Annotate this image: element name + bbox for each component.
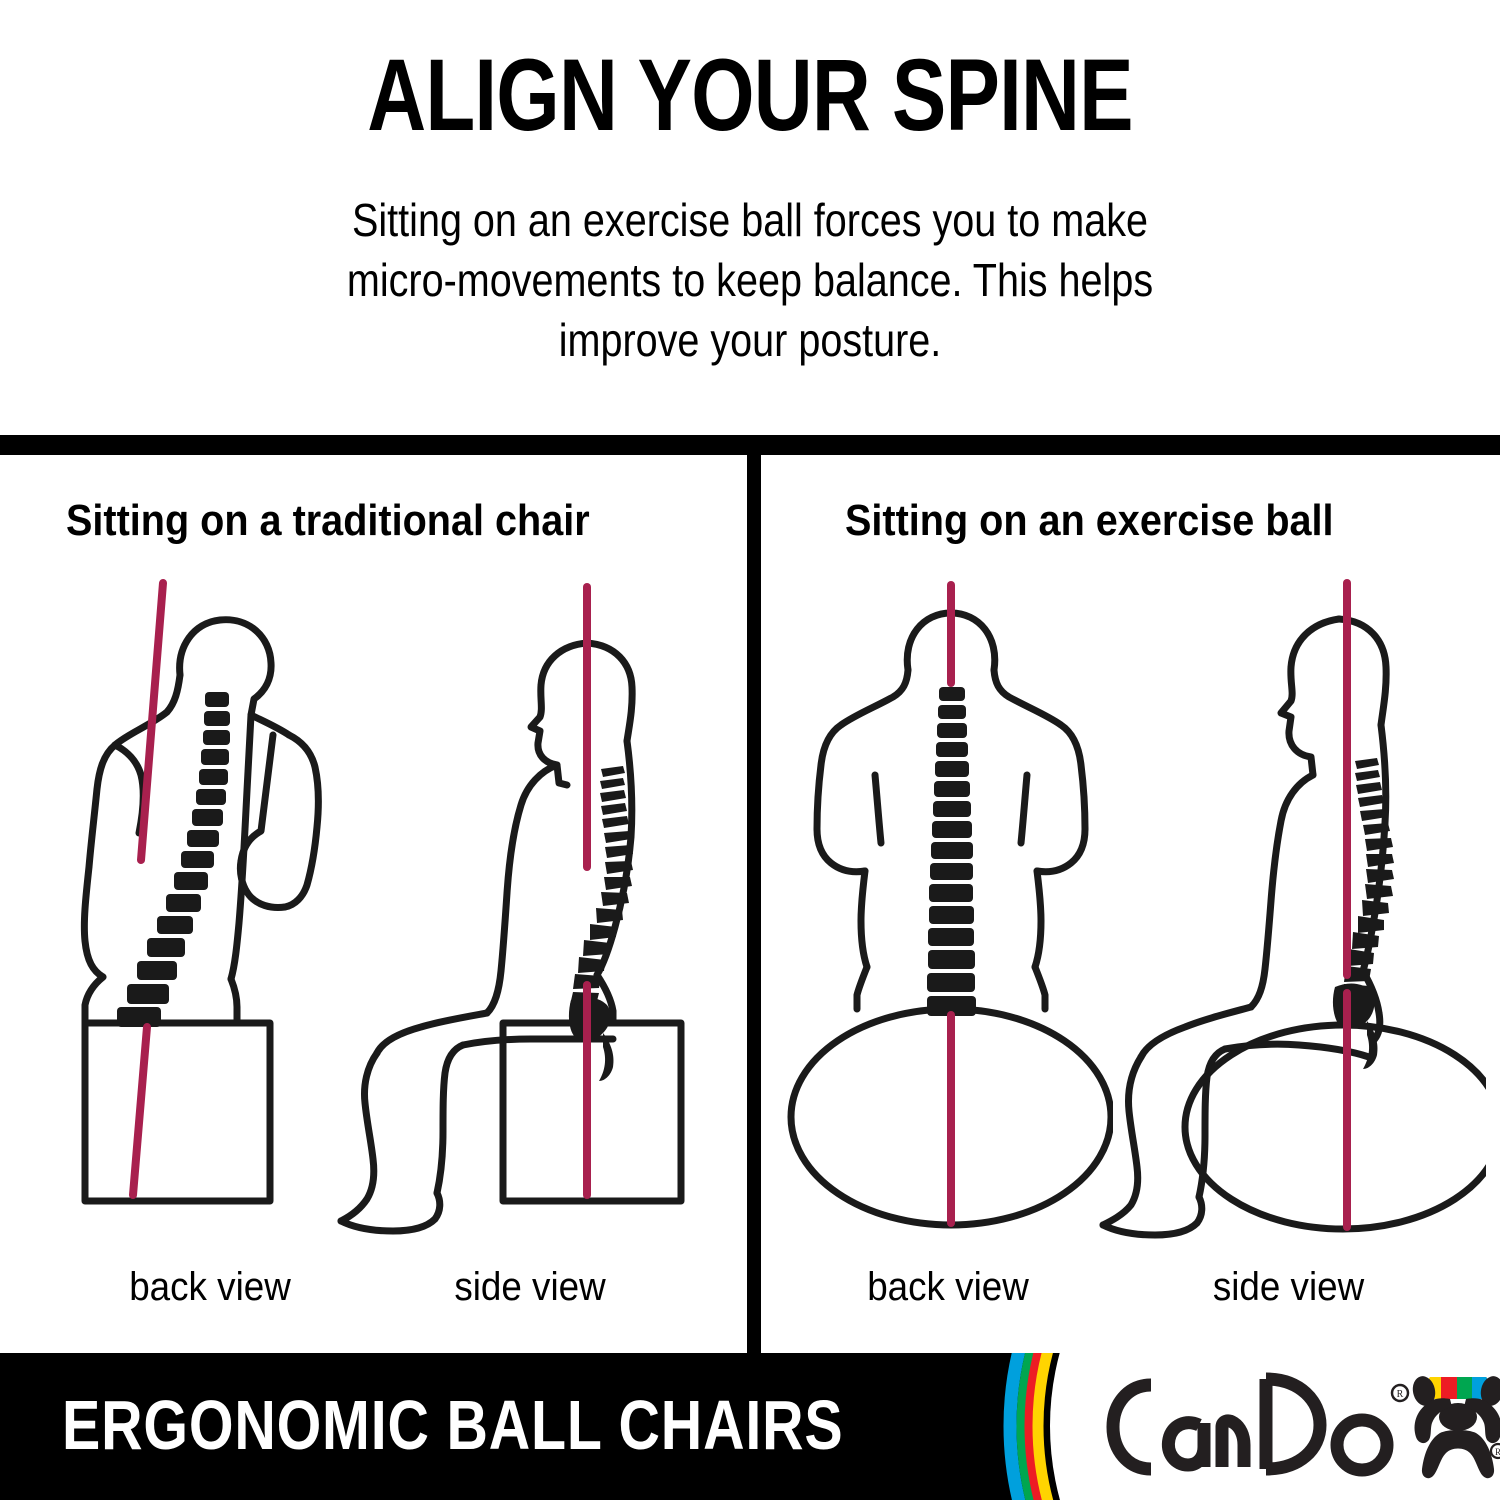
caption-chair-side-view: side view [351,1265,710,1309]
figure-chair-back-view: back view [45,575,375,1260]
panel-heading-exercise-ball: Sitting on an exercise ball [845,497,1334,545]
header-section: ALIGN YOUR SPINE Sitting on an exercise … [0,0,1500,435]
page-title: ALIGN YOUR SPINE [150,42,1350,148]
page-subtitle: Sitting on an exercise ball forces you t… [320,190,1180,370]
header-divider-rule [0,435,1500,455]
footer-banner: ERGONOMIC BALL CHAIRS [0,1353,1500,1500]
figure-ball-side-view: side view [1091,575,1486,1260]
panel-traditional-chair: Sitting on a traditional chair [0,455,747,1353]
chair-back-view-illustration [45,575,375,1255]
footer-banner-text: ERGONOMIC BALL CHAIRS [62,1387,843,1463]
cando-logo-svg: R [1000,1353,1500,1500]
figure-chair-side-view: side view [335,575,725,1260]
svg-text:R: R [1397,1389,1404,1400]
chair-side-view-illustration [335,575,725,1255]
infographic-page: ALIGN YOUR SPINE Sitting on an exercise … [0,0,1500,1500]
panel-exercise-ball: Sitting on an exercise ball [761,455,1500,1353]
caption-chair-back-view: back view [58,1265,362,1309]
panel-heading-traditional-chair: Sitting on a traditional chair [66,497,590,545]
cando-logo: R [1000,1353,1500,1500]
figure-ball-back-view: back view [783,575,1113,1260]
caption-ball-back-view: back view [796,1265,1100,1309]
panel-divider-rule [747,455,761,1353]
ball-side-view-illustration [1091,575,1486,1255]
caption-ball-side-view: side view [1107,1265,1470,1309]
ball-back-view-illustration [783,575,1113,1255]
svg-text:R: R [1495,1447,1500,1457]
